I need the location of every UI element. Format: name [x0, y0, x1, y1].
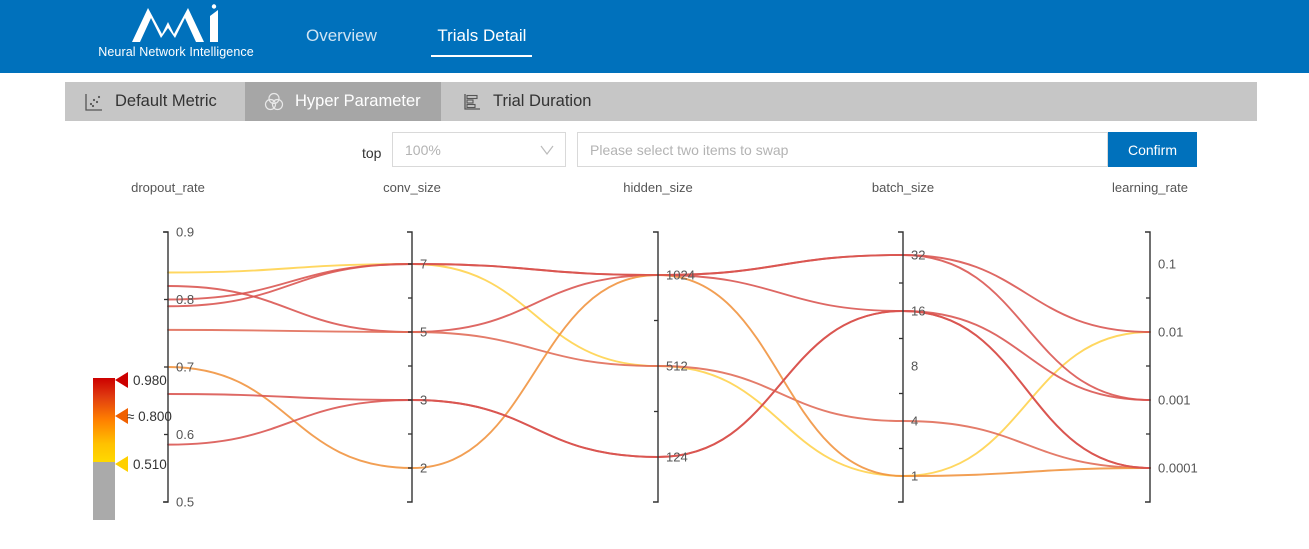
axis-tick-label: 0.7: [176, 360, 194, 375]
trial-lines-layer[interactable]: [168, 255, 1150, 476]
axis-tick-label: 0.0001: [1158, 461, 1198, 476]
axis-tick-label: 3: [420, 393, 427, 408]
visual-map-legend[interactable]: 0.980≈ 0.8000.510: [93, 372, 172, 520]
swap-items-input[interactable]: Please select two items to swap: [577, 132, 1108, 167]
swap-items-placeholder: Please select two items to swap: [590, 142, 788, 158]
trial-line[interactable]: [168, 311, 1150, 468]
chevron-down-icon: [540, 144, 554, 156]
axis-learning_rate: learning_rate0.10.010.0010.0001: [1112, 180, 1198, 502]
bar-chart-icon: [462, 92, 482, 112]
visual-map-mid-label: ≈ 0.800: [127, 409, 172, 424]
visual-map-min-label: 0.510: [133, 457, 167, 472]
axis-conv_size: conv_size7532: [383, 180, 441, 502]
parallel-coordinates-svg[interactable]: dropout_rate0.90.80.70.60.5conv_size7532…: [0, 176, 1309, 549]
axis-batch_size: batch_size3216841: [872, 180, 934, 502]
axis-line: [1145, 232, 1150, 502]
axes-layer: dropout_rate0.90.80.70.60.5conv_size7532…: [131, 180, 1198, 510]
axis-line: [898, 232, 903, 502]
nav-item-trials-detail[interactable]: Trials Detail: [431, 26, 532, 57]
axis-title: conv_size: [383, 180, 441, 195]
visual-map-max-label: 0.980: [133, 373, 167, 388]
axis-line: [653, 232, 658, 502]
axis-tick-label: 1: [911, 469, 918, 484]
visual-map-inactive-range[interactable]: [93, 462, 115, 520]
axis-tick-label: 512: [666, 359, 688, 374]
axis-tick-label: 0.8: [176, 292, 194, 307]
top-percent-value: 100%: [405, 142, 441, 158]
parallel-coordinates-chart: dropout_rate0.90.80.70.60.5conv_size7532…: [0, 176, 1309, 549]
scatter-plot-icon: [84, 92, 104, 112]
axis-tick-label: 2: [420, 461, 427, 476]
primary-nav: Overview Trials Detail: [300, 26, 576, 66]
axis-tick-label: 16: [911, 304, 925, 319]
tab-label: Trial Duration: [493, 92, 591, 111]
visual-map-min-handle[interactable]: [115, 456, 128, 472]
tab-label: Hyper Parameter: [295, 92, 421, 111]
axis-tick-label: 0.01: [1158, 325, 1183, 340]
axis-tick-label: 0.1: [1158, 257, 1176, 272]
trial-line[interactable]: [168, 255, 1150, 400]
top-percent-select[interactable]: 100%: [392, 132, 566, 167]
trial-line[interactable]: [168, 264, 1150, 476]
axis-title: learning_rate: [1112, 180, 1188, 195]
confirm-button[interactable]: Confirm: [1108, 132, 1197, 167]
nav-item-overview[interactable]: Overview: [300, 26, 383, 55]
venn-diagram-icon: [264, 92, 284, 112]
brand-logo[interactable]: Neural Network Intelligence: [90, 4, 262, 68]
top-label: top: [362, 145, 381, 161]
brand-name: Neural Network Intelligence: [90, 45, 262, 59]
detail-tabstrip: Default Metric Hyper Parameter Trial Dur…: [65, 82, 1257, 121]
tab-default-metric[interactable]: Default Metric: [65, 82, 243, 121]
visual-map-max-handle[interactable]: [115, 372, 128, 388]
tab-hyper-parameter[interactable]: Hyper Parameter: [245, 82, 441, 121]
axis-tick-label: 0.6: [176, 427, 194, 442]
axis-title: dropout_rate: [131, 180, 205, 195]
axis-hidden_size: hidden_size1024512124: [623, 180, 695, 502]
axis-line: [407, 232, 412, 502]
chart-controls: top 100% Please select two items to swap…: [0, 132, 1309, 176]
axis-tick-label: 0.001: [1158, 393, 1191, 408]
axis-tick-label: 0.9: [176, 225, 194, 240]
axis-tick-label: 7: [420, 257, 427, 272]
axis-tick-label: 8: [911, 359, 918, 374]
axis-title: batch_size: [872, 180, 934, 195]
nni-logo-icon: [128, 4, 224, 44]
axis-tick-label: 1024: [666, 268, 695, 283]
tab-label: Default Metric: [115, 92, 217, 111]
axis-tick-label: 5: [420, 325, 427, 340]
axis-tick-label: 124: [666, 450, 688, 465]
tab-trial-duration[interactable]: Trial Duration: [443, 82, 621, 121]
axis-tick-label: 32: [911, 248, 925, 263]
app-header: Neural Network Intelligence Overview Tri…: [0, 0, 1309, 73]
visual-map-gradient[interactable]: [93, 378, 115, 462]
axis-tick-label: 4: [911, 414, 918, 429]
axis-tick-label: 0.5: [176, 495, 194, 510]
trial-line[interactable]: [168, 275, 1150, 476]
axis-title: hidden_size: [623, 180, 692, 195]
